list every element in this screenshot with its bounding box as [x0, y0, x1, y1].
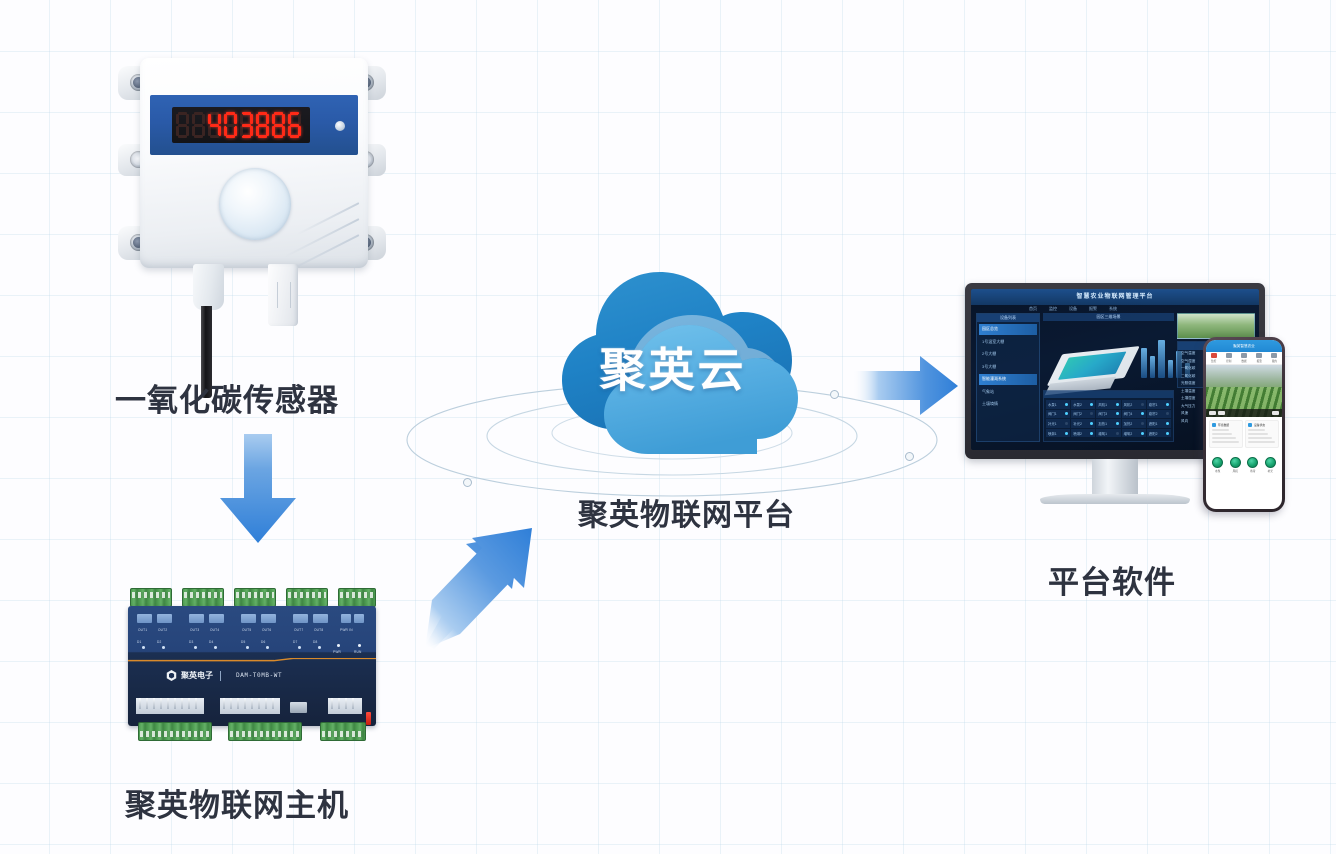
device-status-cell[interactable]: 遮阳1 — [1147, 419, 1171, 428]
usb-port-icon[interactable] — [290, 702, 307, 713]
led-digit — [255, 112, 270, 138]
play-button-icon[interactable] — [1209, 411, 1216, 415]
led-digit — [175, 112, 190, 138]
device-status-cell[interactable]: 喷淋2 — [1071, 429, 1095, 438]
arrow-sensor-to-controller — [212, 432, 304, 547]
card-title: 设备状态 — [1254, 423, 1265, 427]
card-icon — [1248, 423, 1252, 427]
device-status-cell[interactable]: 补光2 — [1071, 419, 1095, 428]
arrow-cloud-to-software — [850, 355, 960, 417]
iot-controller-device: OUT1 OUT2 OUT3 OUT4 OUT5 OUT6 OUT7 OUT8 … — [124, 588, 380, 744]
dashboard-scene-panel: 园区三维场景 — [1043, 313, 1174, 388]
device-state-dot — [1090, 422, 1093, 425]
controller-brand-logo: 聚英电子 — [166, 670, 224, 681]
pause-button-icon[interactable] — [1218, 411, 1225, 415]
control-button-label: 水泵 — [1215, 469, 1220, 473]
co-sensor-device — [118, 58, 386, 358]
phone-control-button[interactable]: 水泵 — [1212, 457, 1223, 474]
device-state-dot — [1090, 403, 1093, 406]
dashboard-tab[interactable]: 设备 — [1069, 306, 1077, 312]
phone-tab-label: 我的 — [1272, 359, 1277, 363]
device-state-dot — [1141, 432, 1144, 435]
device-label: 阀门3 — [1098, 411, 1107, 416]
sidebar-header: 设备列表 — [977, 314, 1039, 322]
pilot-lamp-icon — [335, 121, 345, 131]
phone-tab-label: 控制 — [1226, 359, 1231, 363]
realtime-label: 光照强度 — [1181, 381, 1195, 386]
device-status-cell[interactable]: 水泵1 — [1046, 400, 1070, 409]
phone-tab-icon — [1271, 353, 1277, 358]
device-label: 喷淋2 — [1073, 431, 1082, 436]
device-label: 加热2 — [1124, 421, 1133, 426]
device-state-dot — [1116, 422, 1119, 425]
sidebar-item[interactable]: 3号大棚 — [979, 361, 1037, 372]
control-button-icon — [1212, 457, 1223, 468]
scene-panel-header: 园区三维场景 — [1043, 313, 1174, 321]
led-digit — [191, 112, 206, 138]
realtime-label: 空气温度 — [1181, 351, 1195, 356]
hexagon-logo-icon — [166, 670, 177, 681]
phone-info-card: 设备状态 — [1245, 420, 1279, 448]
realtime-label: 风向 — [1181, 419, 1188, 424]
phone-tab[interactable]: 报警 — [1252, 352, 1267, 364]
sensor-cable-gland — [193, 264, 224, 310]
control-button-icon — [1247, 457, 1258, 468]
dashboard-tab[interactable]: 报警 — [1089, 306, 1097, 312]
device-label: 卷帘2 — [1149, 411, 1158, 416]
controller-model-text: DAM-T0MB-WT — [236, 672, 282, 679]
device-status-cell[interactable]: 水泵2 — [1071, 400, 1095, 409]
card-text-line — [1212, 437, 1236, 439]
orbit-node — [463, 478, 472, 487]
device-status-cell[interactable]: 喷淋1 — [1046, 429, 1070, 438]
device-state-dot — [1090, 432, 1093, 435]
device-status-cell[interactable]: 卷帘2 — [1147, 410, 1171, 419]
phone-tab-icon — [1256, 353, 1262, 358]
card-text-line — [1212, 433, 1232, 435]
device-status-cell[interactable]: 增氧2 — [1122, 429, 1146, 438]
phone-control-button[interactable]: 卷帘 — [1247, 457, 1258, 474]
orbit-node — [830, 390, 839, 399]
phone-tab-label: 数据 — [1241, 359, 1246, 363]
device-status-cell[interactable]: 加热2 — [1122, 419, 1146, 428]
device-label: 风机1 — [1098, 402, 1107, 407]
phone-screen: 聚英智慧农业 监控控制数据报警我的 环境数据设备状态 水泵风机卷帘补光 — [1206, 340, 1282, 509]
label-iot-controller: 聚英物联网主机 — [125, 780, 349, 825]
device-status-cell[interactable]: 阀门4 — [1122, 410, 1146, 419]
device-state-dot — [1116, 432, 1119, 435]
phone-tab[interactable]: 数据 — [1236, 352, 1251, 364]
phone-control-button[interactable]: 补光 — [1265, 457, 1276, 474]
device-label: 喷淋1 — [1048, 431, 1057, 436]
control-button-label: 卷帘 — [1250, 469, 1255, 473]
phone-control-button[interactable]: 风机 — [1230, 457, 1241, 474]
phone-tab-bar[interactable]: 监控控制数据报警我的 — [1206, 352, 1282, 365]
card-text-line — [1248, 433, 1268, 435]
terminal-block — [234, 588, 276, 607]
phone-tab-icon — [1226, 353, 1232, 358]
device-label: 阀门1 — [1048, 411, 1057, 416]
led-digit — [207, 112, 222, 138]
status-led-pwr — [337, 644, 340, 647]
dashboard-title: 智慧农业物联网管理平台 — [971, 291, 1259, 300]
device-label: 遮阳1 — [1149, 421, 1158, 426]
device-label: 卷帘1 — [1149, 402, 1158, 407]
phone-info-cards: 环境数据设备状态 — [1206, 417, 1282, 451]
monitor-stand-base — [1040, 494, 1190, 504]
led-digit — [239, 112, 254, 138]
device-state-dot — [1116, 403, 1119, 406]
sidebar-item-list[interactable]: 园区总览1号温室大棚2号大棚3号大棚智能灌溉系统气象站土壤墒情 — [977, 324, 1039, 410]
controller-accent-divider — [128, 658, 376, 662]
platform-mobile-app: 聚英智慧农业 监控控制数据报警我的 环境数据设备状态 水泵风机卷帘补光 — [1203, 337, 1285, 512]
led-readout — [172, 107, 310, 143]
card-text-line — [1248, 441, 1275, 443]
label-platform-software: 平台软件 — [1048, 557, 1176, 602]
device-status-cell[interactable]: 补光1 — [1046, 419, 1070, 428]
device-state-dot — [1166, 432, 1169, 435]
card-text-line — [1248, 429, 1265, 431]
sensor-filter-probe — [268, 264, 298, 326]
power-led-indicator — [366, 712, 371, 725]
arrow-controller-to-cloud — [424, 516, 549, 651]
controller-faceplate: OUT1 OUT2 OUT3 OUT4 OUT5 OUT6 OUT7 OUT8 … — [128, 606, 376, 726]
device-label: 加热1 — [1098, 421, 1107, 426]
device-label: 风机2 — [1124, 402, 1133, 407]
device-status-cell[interactable]: 阀门1 — [1046, 410, 1070, 419]
phone-app-header: 聚英智慧农业 — [1206, 340, 1282, 352]
device-label: 水泵2 — [1073, 402, 1082, 407]
phone-tab[interactable]: 控制 — [1221, 352, 1236, 364]
sidebar-item[interactable]: 2号大棚 — [979, 349, 1037, 360]
dashboard-tab[interactable]: 监控 — [1049, 306, 1057, 312]
led-digit — [223, 112, 238, 138]
phone-tab-icon — [1211, 353, 1217, 358]
phone-control-buttons[interactable]: 水泵风机卷帘补光 — [1206, 451, 1282, 477]
realtime-label: 土壤湿度 — [1181, 396, 1195, 401]
sidebar-item[interactable]: 园区总览 — [979, 324, 1037, 335]
device-label: 增氧1 — [1098, 431, 1107, 436]
device-state-dot — [1065, 422, 1068, 425]
sensor-gas-lens — [219, 168, 291, 240]
card-text-line — [1212, 429, 1229, 431]
device-state-dot — [1166, 412, 1169, 415]
card-icon — [1212, 423, 1216, 427]
device-status-grid[interactable]: 水泵1水泵2风机1风机2卷帘1阀门1阀门2阀门3阀门4卷帘2补光1补光2加热1加… — [1044, 398, 1173, 439]
label-iot-platform: 聚英物联网平台 — [578, 490, 795, 534]
card-title: 环境数据 — [1218, 423, 1229, 427]
phone-info-card: 环境数据 — [1209, 420, 1243, 448]
realtime-label: 空气湿度 — [1181, 359, 1195, 364]
dashboard-tabs[interactable]: 首页监控设备报警系统 — [1029, 306, 1117, 312]
terminal-block — [320, 722, 366, 741]
device-state-dot — [1090, 412, 1093, 415]
device-state-dot — [1065, 432, 1068, 435]
device-state-dot — [1166, 403, 1169, 406]
device-label: 遮阳2 — [1149, 431, 1158, 436]
device-state-dot — [1116, 412, 1119, 415]
terminal-block — [130, 588, 172, 607]
control-button-icon — [1265, 457, 1276, 468]
realtime-label: 风速 — [1181, 411, 1188, 416]
diagram-canvas: 一氧化碳传感器 OUT — [0, 0, 1336, 854]
control-button-label: 风机 — [1233, 469, 1238, 473]
fullscreen-icon[interactable] — [1272, 411, 1279, 415]
device-state-dot — [1065, 403, 1068, 406]
realtime-label: 一氧化碳 — [1181, 366, 1195, 371]
video-control-bar[interactable] — [1206, 409, 1282, 417]
monitor-stand-neck — [1092, 459, 1138, 497]
housing-vent-line — [296, 202, 359, 236]
dashboard-tab[interactable]: 首页 — [1029, 306, 1037, 312]
terminal-block — [182, 588, 224, 607]
terminal-block — [228, 722, 302, 741]
dashboard-sidebar[interactable]: 设备列表 园区总览1号温室大棚2号大棚3号大棚智能灌溉系统气象站土壤墒情 — [976, 313, 1040, 442]
dip-switch-bank[interactable] — [136, 698, 204, 714]
controller-brand-text: 聚英电子 — [181, 670, 213, 681]
led-digit — [287, 112, 302, 138]
terminal-block — [338, 588, 376, 607]
device-status-cell[interactable]: 遮阳2 — [1147, 429, 1171, 438]
control-button-label: 补光 — [1268, 469, 1273, 473]
realtime-label: 大气压力 — [1181, 404, 1195, 409]
dashboard-tab[interactable]: 系统 — [1109, 306, 1117, 312]
phone-tab-icon — [1241, 353, 1247, 358]
card-text-line — [1212, 441, 1239, 443]
device-status-cell[interactable]: 风机2 — [1122, 400, 1146, 409]
device-label: 补光2 — [1073, 421, 1082, 426]
terminal-block — [286, 588, 328, 607]
device-label: 增氧2 — [1124, 431, 1133, 436]
phone-tab-label: 监控 — [1211, 359, 1216, 363]
sidebar-item[interactable]: 1号温室大棚 — [979, 336, 1037, 347]
phone-tab[interactable]: 监控 — [1206, 352, 1221, 364]
control-button-icon — [1230, 457, 1241, 468]
card-header: 环境数据 — [1212, 423, 1240, 427]
phone-tab[interactable]: 我的 — [1267, 352, 1282, 364]
cloud-logo-text: 聚英云 — [528, 334, 818, 400]
card-text-line — [1248, 437, 1272, 439]
sidebar-item[interactable]: 智能灌溉系统 — [979, 374, 1037, 385]
led-digit — [271, 112, 286, 138]
phone-camera-feed[interactable] — [1206, 365, 1282, 417]
device-state-dot — [1141, 412, 1144, 415]
device-status-cell[interactable]: 阀门3 — [1096, 410, 1120, 419]
device-state-dot — [1065, 412, 1068, 415]
phone-app-title: 聚英智慧农业 — [1233, 344, 1255, 349]
device-status-panel: 水泵1水泵2风机1风机2卷帘1阀门1阀门2阀门3阀门4卷帘2补光1补光2加热1加… — [1043, 390, 1174, 442]
device-state-dot — [1141, 422, 1144, 425]
device-state-dot — [1141, 403, 1144, 406]
dip-switch-bank[interactable] — [220, 698, 280, 714]
dip-switch-bank[interactable] — [328, 698, 362, 714]
sensor-display-panel — [150, 95, 358, 155]
device-label: 水泵1 — [1048, 402, 1057, 407]
sidebar-item[interactable]: 土壤墒情 — [979, 399, 1037, 410]
orbit-node — [905, 452, 914, 461]
device-label: 阀门2 — [1073, 411, 1082, 416]
realtime-label: 土壤温度 — [1181, 389, 1195, 394]
device-status-cell[interactable]: 风机1 — [1096, 400, 1120, 409]
phone-tab-label: 报警 — [1257, 359, 1262, 363]
device-status-cell[interactable]: 卷帘1 — [1147, 400, 1171, 409]
device-status-cell[interactable]: 加热1 — [1096, 419, 1120, 428]
label-co-sensor: 一氧化碳传感器 — [115, 375, 339, 420]
card-header: 设备状态 — [1248, 423, 1276, 427]
device-status-cell[interactable]: 阀门2 — [1071, 410, 1095, 419]
sidebar-item[interactable]: 气象站 — [979, 386, 1037, 397]
realtime-label: 二氧化碳 — [1181, 374, 1195, 379]
status-led-run — [358, 644, 361, 647]
device-status-cell[interactable]: 增氧1 — [1096, 429, 1120, 438]
device-state-dot — [1166, 422, 1169, 425]
sensor-housing — [140, 58, 368, 268]
device-label: 阀门4 — [1124, 411, 1133, 416]
scene-camera-thumbnail[interactable] — [1177, 313, 1255, 339]
device-status-header — [1044, 391, 1173, 398]
terminal-block — [138, 722, 212, 741]
device-label: 补光1 — [1048, 421, 1057, 426]
